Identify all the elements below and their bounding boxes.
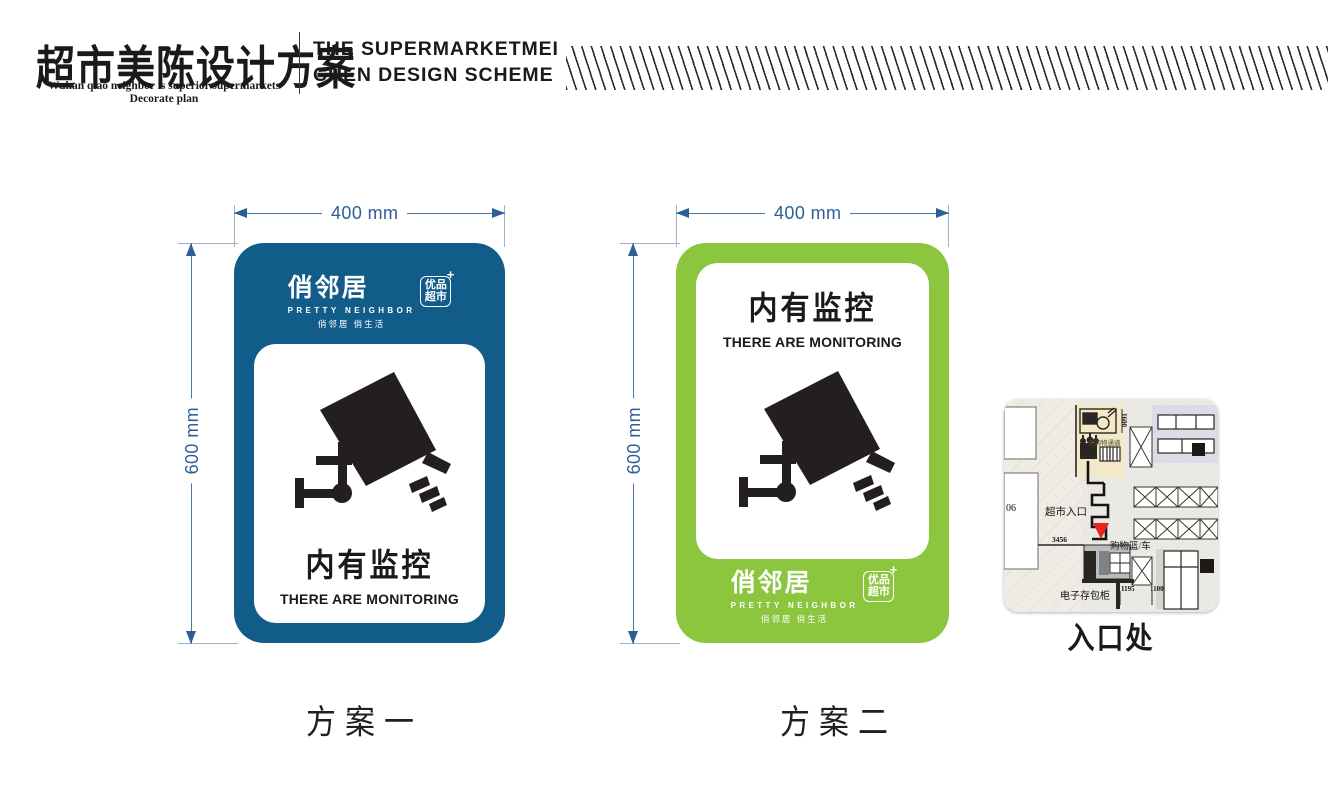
floorplan-drawing — [1004, 399, 1218, 612]
sign-message-scheme-two: 内有监控 THERE ARE MONITORING — [696, 285, 929, 350]
brand-badge-line2: 超市 — [425, 292, 447, 304]
brand-english-name: PRETTY NEIGHBOR — [288, 307, 416, 315]
scheme-two-width-arrow-left — [676, 208, 689, 218]
scheme-two-height-arrow-up — [628, 243, 638, 256]
brand-badge-plus-icon: + — [890, 563, 898, 576]
sign-message-english: THERE ARE MONITORING — [696, 334, 929, 350]
brand-tagline: 俏邻居 俏生活 — [731, 615, 859, 624]
brand-logo-text-block: 俏邻居 PRETTY NEIGHBOR 俏邻居 俏生活 — [288, 276, 416, 329]
brand-logo-scheme-two: 俏邻居 PRETTY NEIGHBOR 俏邻居 俏生活 优品 超市 + — [676, 571, 949, 624]
sign-inner-panel-scheme-one: 内有监控 THERE ARE MONITORING — [254, 344, 485, 623]
scheme-two-height-label: 600 mm — [624, 398, 645, 483]
scheme-two-height-arrow-down — [628, 631, 638, 644]
floorplan-label-entrance: 超市入口 — [1045, 504, 1087, 519]
header-chinese-subtitle: Wuhan qiao neighbor is superior supermar… — [38, 80, 290, 106]
brand-badge-line1: 优品 — [868, 575, 890, 587]
floorplan-caption: 入口处 — [1004, 614, 1218, 658]
sign-panel-scheme-one[interactable]: 俏邻居 PRETTY NEIGHBOR 俏邻居 俏生活 优品 超市 + — [234, 243, 505, 643]
floorplan-label-carts: 购物篮/车 — [1110, 538, 1151, 552]
sign-message-chinese: 内有监控 — [696, 283, 929, 329]
scheme-one-width-arrow-left — [234, 208, 247, 218]
brand-english-name: PRETTY NEIGHBOR — [731, 602, 859, 610]
floorplan-thumbnail[interactable]: 超市入口 购物篮/车 电子存包柜 无购物通道 3456 1600 1195 11… — [1004, 399, 1218, 612]
brand-badge: 优品 超市 + — [863, 571, 894, 602]
brand-wordmark: 俏邻居 — [288, 276, 416, 301]
sign-message-chinese: 内有监控 — [254, 540, 485, 586]
brand-logo-scheme-one: 俏邻居 PRETTY NEIGHBOR 俏邻居 俏生活 优品 超市 + — [234, 276, 505, 329]
sign-message-english: THERE ARE MONITORING — [254, 591, 485, 607]
cctv-camera-icon — [724, 363, 904, 513]
scheme-one-width-label: 400 mm — [322, 203, 407, 224]
sign-message-scheme-one: 内有监控 THERE ARE MONITORING — [254, 542, 485, 607]
cctv-camera-icon — [280, 364, 460, 514]
brand-badge-line2: 超市 — [868, 587, 890, 599]
floorplan-dim-1195: 1195 — [1121, 585, 1135, 593]
scheme-one-height-arrow-up — [186, 243, 196, 256]
brand-badge-plus-icon: + — [447, 268, 455, 281]
header-english-title-line1: THE SUPERMARKETMEI — [313, 36, 559, 62]
floorplan-label-lockers: 电子存包柜 — [1060, 587, 1110, 602]
scheme-two-width-arrow-right — [936, 208, 949, 218]
brand-badge-line1: 优品 — [425, 280, 447, 292]
sign-panel-scheme-two[interactable]: 内有监控 THERE ARE MONITORING — [676, 243, 949, 643]
header-divider — [299, 32, 300, 94]
brand-badge: 优品 超市 + — [420, 276, 451, 307]
scheme-one-height-label: 600 mm — [182, 398, 203, 483]
floorplan-room-06: 06 — [1006, 503, 1016, 514]
page-header: 超市美陈设计方案 Wuhan qiao neighbor is superior… — [0, 0, 1337, 120]
scheme-one-caption: 方案一 — [306, 694, 423, 743]
brand-logo-text-block: 俏邻居 PRETTY NEIGHBOR 俏邻居 俏生活 — [731, 571, 859, 624]
brand-wordmark: 俏邻居 — [731, 571, 859, 596]
header-english-title: THE SUPERMARKETMEI CHEN DESIGN SCHEME — [313, 36, 559, 88]
floorplan-dim-3456: 3456 — [1052, 535, 1067, 544]
sign-inner-panel-scheme-two: 内有监控 THERE ARE MONITORING — [696, 263, 929, 559]
header-stripe-pattern — [566, 46, 1328, 90]
scheme-two-width-label: 400 mm — [765, 203, 850, 224]
floorplan-label-goods-passage: 无购物通道 — [1088, 437, 1121, 447]
scheme-two-caption: 方案二 — [780, 694, 897, 743]
floorplan-dim-1100: 1100 — [1150, 585, 1164, 593]
brand-tagline: 俏邻居 俏生活 — [288, 320, 416, 329]
floorplan-dim-1600: 1600 — [1120, 413, 1128, 427]
scheme-one-width-arrow-right — [492, 208, 505, 218]
header-english-title-line2: CHEN DESIGN SCHEME — [313, 62, 559, 88]
scheme-one-height-arrow-down — [186, 631, 196, 644]
